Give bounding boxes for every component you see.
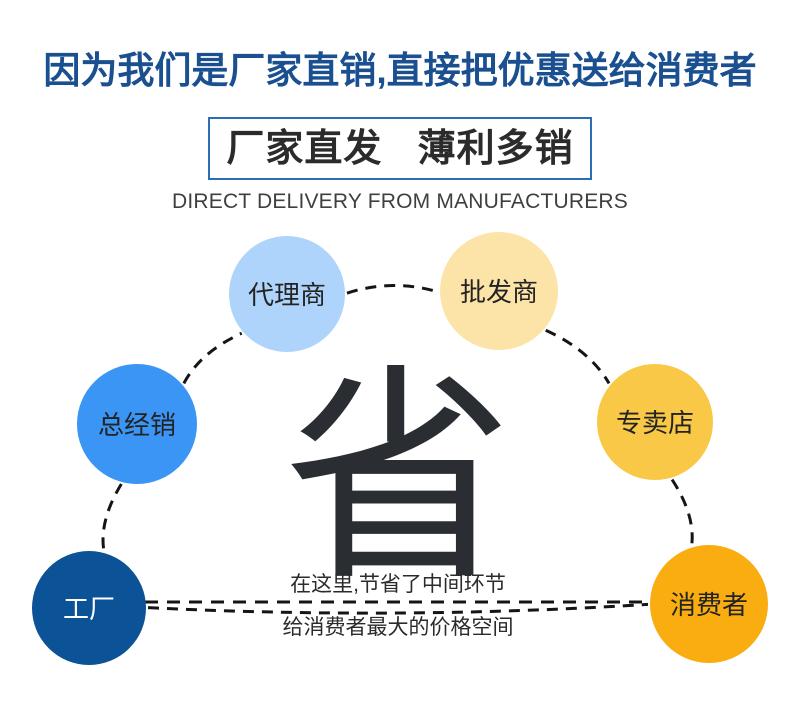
node-consumer[interactable]: 消费者 bbox=[650, 545, 768, 663]
connector-wholesaler-to-store bbox=[546, 330, 609, 383]
node-label-factory: 工厂 bbox=[63, 594, 115, 624]
slogan-text-left: 厂家直发 bbox=[226, 128, 382, 170]
supply-chain-diagram: 省 在这里,节省了中间环节 给消费者最大的价格空间 代理商批发商总经销专卖店工厂… bbox=[0, 222, 800, 702]
node-factory[interactable]: 工厂 bbox=[32, 551, 146, 665]
node-distributor[interactable]: 总经销 bbox=[77, 364, 197, 484]
node-label-distributor: 总经销 bbox=[98, 410, 176, 440]
caption-line-2: 给消费者最大的价格空间 bbox=[283, 616, 514, 639]
node-label-agent: 代理商 bbox=[248, 280, 326, 310]
connector-store-to-consumer bbox=[672, 480, 692, 546]
node-label-consumer: 消费者 bbox=[670, 590, 748, 620]
diagram-canvas: 省 在这里,节省了中间环节 给消费者最大的价格空间 代理商批发商总经销专卖店工厂… bbox=[0, 222, 800, 702]
subtitle-english: DIRECT DELIVERY FROM MANUFACTURERS bbox=[0, 190, 800, 214]
page-title: 因为我们是厂家直销,直接把优惠送给消费者 bbox=[0, 40, 800, 94]
slogan-text-right: 薄利多销 bbox=[418, 128, 574, 170]
node-store[interactable]: 专卖店 bbox=[597, 364, 713, 480]
slogan-box: 厂家直发 薄利多销 bbox=[208, 117, 592, 180]
connector-distributor-to-agent bbox=[184, 333, 242, 383]
caption-line-1: 在这里,节省了中间环节 bbox=[290, 573, 506, 596]
node-wholesaler[interactable]: 批发商 bbox=[440, 232, 558, 350]
connector-distributor-to-factory bbox=[103, 484, 121, 551]
promo-banner: 因为我们是厂家直销,直接把优惠送给消费者 厂家直发 薄利多销 DIRECT DE… bbox=[0, 0, 800, 726]
connector-agent-to-wholesaler bbox=[347, 285, 438, 293]
node-label-wholesaler: 批发商 bbox=[460, 277, 538, 307]
node-label-store: 专卖店 bbox=[616, 408, 694, 438]
slogan-text: 厂家直发 薄利多销 bbox=[226, 130, 573, 168]
node-agent[interactable]: 代理商 bbox=[229, 236, 345, 352]
center-character: 省 bbox=[283, 353, 513, 608]
